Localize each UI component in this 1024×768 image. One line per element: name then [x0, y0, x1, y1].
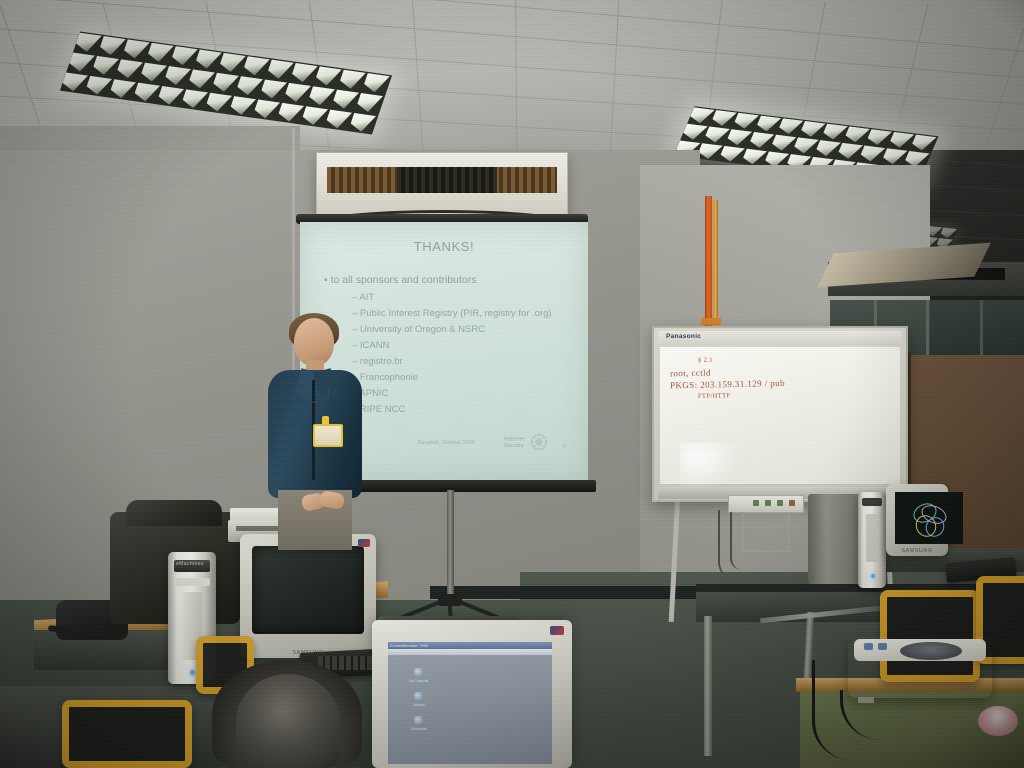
folder-icon[interactable]: [414, 716, 423, 725]
light-louver-cell: [307, 86, 335, 106]
light-louver-cell: [881, 148, 908, 165]
slide-bullet: • to all sponsors and contributors: [324, 274, 576, 286]
light-louver-cell: [681, 124, 708, 141]
light-louver-cell: [91, 56, 119, 76]
slide-bullet: – registro.br: [352, 356, 576, 367]
light-louver-cell: [324, 109, 352, 129]
window-titlebar: ExceedBrowser 7954: [388, 642, 552, 649]
light-louver-cell: [156, 86, 184, 106]
light-louver-cell: [710, 110, 737, 127]
light-louver-cell: [770, 135, 797, 152]
light-louver-cell: [348, 113, 376, 133]
chair-front-left[interactable]: [62, 700, 192, 768]
slide-footer: Bangkok, October 2004: [418, 440, 475, 446]
light-louver-cell: [204, 92, 232, 112]
light-louver-cell: [242, 56, 270, 76]
printer-button[interactable]: [789, 500, 795, 506]
power-cord: [730, 512, 742, 570]
light-louver-cell: [696, 143, 723, 160]
light-louver-cell: [211, 73, 239, 93]
light-louver-cell: [703, 126, 730, 143]
pc-tower-right[interactable]: [858, 492, 886, 588]
light-louver-cell: [67, 52, 95, 72]
light-louver-cell: [754, 115, 781, 132]
light-louver-cell: [132, 82, 160, 102]
projector-brand-label: SONY: [957, 686, 978, 692]
tape-roll: [978, 706, 1018, 736]
projector-button[interactable]: [878, 643, 887, 650]
power-led: [871, 574, 875, 578]
icon-label: Network: [406, 703, 432, 707]
light-louver-cell: [276, 102, 304, 122]
screensaver-display: [895, 492, 963, 544]
light-louver-cell: [732, 113, 759, 130]
copyboard-printer[interactable]: [728, 495, 804, 513]
slide-bullet: – ICANN: [352, 340, 576, 351]
monitor-front-lcd[interactable]: ExceedBrowser 7954 My Computer Network D…: [372, 620, 572, 768]
whiteboard-brand-label: Panasonic: [666, 333, 701, 340]
screen-tripod-pole: [447, 490, 454, 600]
svg-text:Society: Society: [504, 443, 525, 449]
projector-button[interactable]: [864, 643, 873, 650]
window-toolbar[interactable]: [388, 649, 552, 655]
printer-button[interactable]: [777, 500, 783, 506]
light-louver-cell: [84, 75, 112, 95]
light-louver-cell: [60, 72, 88, 92]
power-led: [190, 670, 195, 675]
pc-tower-right-dark: [808, 494, 860, 584]
baseboard: [430, 586, 730, 599]
monitor-samsung-center[interactable]: SAMSUNG: [240, 534, 376, 658]
whiteboard-header: Panasonic: [658, 331, 902, 345]
light-louver-cell: [283, 83, 311, 103]
light-louver-cell: [314, 66, 342, 86]
sony-projector[interactable]: SONY: [848, 636, 992, 698]
light-louver-cell: [858, 146, 885, 163]
projector-lens: [900, 642, 962, 660]
slide-title: THANKS!: [300, 239, 588, 254]
slide-bullet: – AIT: [352, 292, 576, 303]
light-louver-cell: [747, 132, 774, 149]
light-louver-cell: [170, 46, 198, 66]
monitor-screensaver[interactable]: SAMSUNG: [886, 484, 948, 556]
light-louver-cell: [836, 143, 863, 160]
light-louver-cell: [115, 59, 143, 79]
light-louver-cell: [777, 118, 804, 135]
printer-paper-tray: [742, 512, 790, 552]
chair-backrest: [62, 700, 192, 768]
light-louver-cell: [740, 148, 767, 165]
tripod-hub: [438, 594, 462, 606]
light-louver-cell: [187, 69, 215, 89]
light-louver-cell: [266, 60, 294, 80]
light-louver-cell: [259, 79, 287, 99]
light-louver-cell: [799, 121, 826, 138]
light-louver-cell: [843, 126, 870, 143]
light-louver-cell: [338, 70, 366, 90]
slide-bullet: – RIPE NCC: [352, 404, 576, 415]
light-louver-cell: [163, 66, 191, 86]
light-louver-cell: [362, 73, 390, 93]
whiteboard-surface[interactable]: § 2.1root, cctldPKGS: 203.159.31.129 / p…: [660, 347, 900, 484]
internet-society-logo: Internet Society: [504, 432, 548, 452]
light-louver-cell: [146, 43, 174, 63]
computer-icon[interactable]: [414, 668, 423, 677]
light-louver-cell: [821, 124, 848, 141]
whiteboard-glare: [680, 443, 740, 491]
slide-bullet: – University of Oregon & NSRC: [352, 324, 576, 335]
light-louver-cell: [139, 63, 167, 83]
light-louver-cell: [74, 33, 102, 53]
icon-label: Documents: [406, 727, 432, 731]
name-badge: [313, 424, 343, 447]
slide-bullet: – APNIC: [352, 388, 576, 399]
light-louver-cell: [228, 96, 256, 116]
presenter-head: [294, 318, 334, 366]
necklace: [305, 388, 329, 403]
light-louver-cell: [98, 36, 126, 56]
monitor-badge: [550, 626, 564, 635]
light-louver-cell: [122, 39, 150, 59]
light-louver-cell: [194, 50, 222, 70]
light-louver-cell: [218, 53, 246, 73]
whiteboard-handwriting: § 2.1root, cctldPKGS: 203.159.31.129 / p…: [670, 353, 894, 401]
light-louver-cell: [939, 227, 957, 238]
optical-drive[interactable]: [862, 498, 882, 506]
svg-text:Internet: Internet: [504, 437, 524, 443]
glass-mullion: [980, 300, 983, 360]
tower-panel: [866, 514, 878, 562]
light-louver-cell: [718, 146, 745, 163]
light-louver-cell: [688, 107, 715, 124]
light-louver-cell: [235, 76, 263, 96]
light-louver-cell: [725, 129, 752, 146]
light-louver-cell: [355, 93, 383, 113]
light-louver-cell: [814, 140, 841, 157]
network-icon[interactable]: [414, 692, 423, 701]
glass-mullion: [926, 300, 929, 360]
light-louver-cell: [300, 106, 328, 126]
drive-bay[interactable]: [174, 578, 210, 586]
light-louver-cell: [792, 137, 819, 154]
slide-bullet: – Francophonie: [352, 372, 576, 383]
light-louver-cell: [331, 89, 359, 109]
whiteboard[interactable]: Panasonic § 2.1root, cctldPKGS: 203.159.…: [652, 326, 908, 502]
tower-brand-label: eMachines: [176, 561, 204, 567]
light-louver-cell: [252, 99, 280, 119]
table-leg: [704, 616, 712, 756]
photo-scene: THANKS! • to all sponsors and contributo…: [0, 0, 1024, 768]
printer-button[interactable]: [753, 500, 759, 506]
light-louver-cell: [180, 89, 208, 109]
monitor-desktop-display[interactable]: ExceedBrowser 7954 My Computer Network D…: [388, 642, 552, 764]
window-title-label: ExceedBrowser 7954: [390, 643, 428, 648]
slide-bullet: – Public Interest Registry (PIR, registr…: [352, 308, 576, 319]
icon-label: My Computer: [406, 679, 432, 683]
attendee-hair: [236, 674, 340, 768]
presenter: [258, 318, 370, 548]
slide-page-number: 6: [563, 444, 566, 450]
light-louver-cell: [865, 129, 892, 146]
ac-vent-center: [397, 167, 497, 193]
monitor-rear-hood: [126, 500, 222, 526]
monitor-display: [252, 546, 364, 634]
monitor-brand-label: SAMSUNG: [886, 548, 948, 554]
light-louver-cell: [910, 135, 937, 152]
printer-button[interactable]: [765, 500, 771, 506]
pipe-clamp: [701, 318, 721, 325]
light-louver-cell: [888, 132, 915, 149]
light-louver-cell: [108, 79, 136, 99]
light-louver-cell: [290, 63, 318, 83]
